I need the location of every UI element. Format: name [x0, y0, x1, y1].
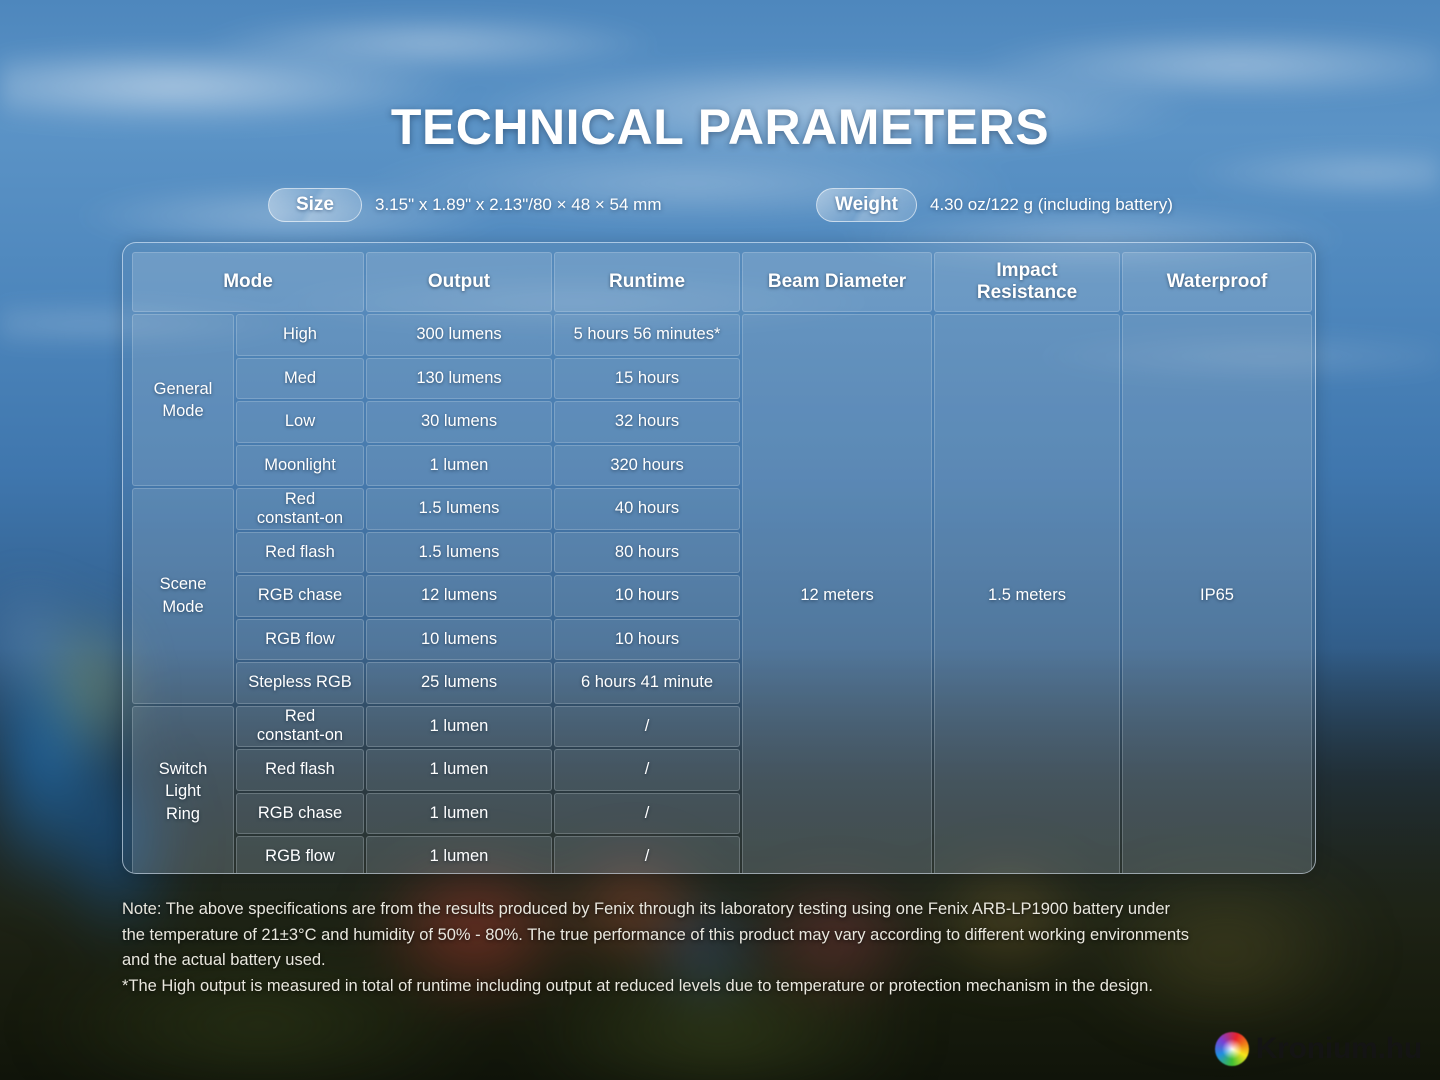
mode-cell: Red constant-on [236, 706, 364, 748]
table-header-row: Mode Output Runtime Beam Diameter Impact… [132, 252, 1312, 312]
mode-cell: High [236, 314, 364, 356]
mode-cell: Red flash [236, 749, 364, 791]
group-label-line3: Ring [166, 805, 200, 823]
output-cell: 1 lumen [366, 706, 552, 748]
mode-cell: RGB chase [236, 575, 364, 617]
runtime-cell: 6 hours 41 minute [554, 662, 740, 704]
footnote: Note: The above specifications are from … [122, 897, 1352, 999]
runtime-cell: / [554, 836, 740, 874]
header-impact-resistance-line2: Resistance [977, 282, 1077, 303]
technical-parameters-table-panel: Mode Output Runtime Beam Diameter Impact… [122, 242, 1316, 874]
runtime-cell: / [554, 706, 740, 748]
footnote-line-3: and the actual battery used. [122, 948, 1352, 974]
page-title: TECHNICAL PARAMETERS [0, 98, 1440, 156]
mode-cell: Low [236, 401, 364, 443]
technical-parameters-table: Mode Output Runtime Beam Diameter Impact… [130, 250, 1314, 874]
table-body: General Mode High 300 lumens 5 hours 56 … [132, 314, 1312, 874]
runtime-cell: / [554, 793, 740, 835]
mode-cell: Red constant-on [236, 488, 364, 530]
table-header: Mode Output Runtime Beam Diameter Impact… [132, 252, 1312, 312]
header-runtime: Runtime [554, 252, 740, 312]
runtime-cell: 320 hours [554, 445, 740, 487]
group-label-line1: Switch [159, 760, 208, 778]
mode-cell: Stepless RGB [236, 662, 364, 704]
mode-label-line2: constant-on [257, 509, 343, 527]
output-cell: 30 lumens [366, 401, 552, 443]
runtime-cell: 15 hours [554, 358, 740, 400]
mode-cell: RGB chase [236, 793, 364, 835]
footnote-line-1: Note: The above specifications are from … [122, 897, 1352, 923]
runtime-cell: 80 hours [554, 532, 740, 574]
output-cell: 12 lumens [366, 575, 552, 617]
weight-label-pill: Weight [816, 188, 917, 222]
header-beam-diameter: Beam Diameter [742, 252, 932, 312]
output-cell: 1.5 lumens [366, 488, 552, 530]
output-cell: 300 lumens [366, 314, 552, 356]
output-cell: 1 lumen [366, 793, 552, 835]
group-label-line2: Mode [162, 598, 203, 616]
header-impact-resistance-line1: Impact [996, 260, 1057, 281]
output-cell: 1 lumen [366, 445, 552, 487]
output-cell: 1 lumen [366, 749, 552, 791]
header-waterproof: Waterproof [1122, 252, 1312, 312]
header-mode: Mode [132, 252, 364, 312]
footnote-line-2: the temperature of 21±3°C and humidity o… [122, 923, 1352, 949]
runtime-cell: 10 hours [554, 619, 740, 661]
rainbow-circle-icon [1215, 1032, 1249, 1066]
mode-label-line2: constant-on [257, 726, 343, 744]
page-content: TECHNICAL PARAMETERS Size 3.15" x 1.89" … [0, 0, 1440, 1080]
weight-value: 4.30 oz/122 g (including battery) [930, 195, 1173, 215]
logo-text: Kronium.hu [1256, 1032, 1422, 1066]
runtime-cell: 40 hours [554, 488, 740, 530]
mode-cell: Red flash [236, 532, 364, 574]
runtime-cell: / [554, 749, 740, 791]
runtime-cell: 10 hours [554, 575, 740, 617]
runtime-cell: 5 hours 56 minutes* [554, 314, 740, 356]
mode-cell: Moonlight [236, 445, 364, 487]
group-cell-general-mode: General Mode [132, 314, 234, 486]
header-impact-resistance: Impact Resistance [934, 252, 1120, 312]
impact-resistance-value: 1.5 meters [934, 314, 1120, 874]
group-label-line2: Mode [162, 402, 203, 420]
output-cell: 130 lumens [366, 358, 552, 400]
beam-diameter-value: 12 meters [742, 314, 932, 874]
table-row: General Mode High 300 lumens 5 hours 56 … [132, 314, 1312, 356]
output-cell: 10 lumens [366, 619, 552, 661]
group-label-line2: Light [165, 782, 201, 800]
group-label-line1: Scene [160, 575, 207, 593]
waterproof-value: IP65 [1122, 314, 1312, 874]
mode-cell: RGB flow [236, 619, 364, 661]
mode-cell: Med [236, 358, 364, 400]
header-output: Output [366, 252, 552, 312]
output-cell: 25 lumens [366, 662, 552, 704]
footnote-line-4: *The High output is measured in total of… [122, 974, 1352, 1000]
mode-label-line1: Red [285, 490, 315, 508]
spec-size-group: Size 3.15" x 1.89" x 2.13"/80 × 48 × 54 … [268, 188, 662, 222]
output-cell: 1 lumen [366, 836, 552, 874]
mode-label-line1: Red [285, 707, 315, 725]
size-value: 3.15" x 1.89" x 2.13"/80 × 48 × 54 mm [375, 195, 662, 215]
group-cell-switch-light-ring: Switch Light Ring [132, 706, 234, 875]
group-cell-scene-mode: Scene Mode [132, 488, 234, 704]
runtime-cell: 32 hours [554, 401, 740, 443]
mode-cell: RGB flow [236, 836, 364, 874]
spec-weight-group: Weight 4.30 oz/122 g (including battery) [816, 188, 1173, 222]
size-label-pill: Size [268, 188, 362, 222]
spec-summary-row: Size 3.15" x 1.89" x 2.13"/80 × 48 × 54 … [268, 188, 1320, 222]
group-label-line1: General [154, 380, 213, 398]
output-cell: 1.5 lumens [366, 532, 552, 574]
site-logo[interactable]: Kronium.hu [1215, 1032, 1422, 1066]
